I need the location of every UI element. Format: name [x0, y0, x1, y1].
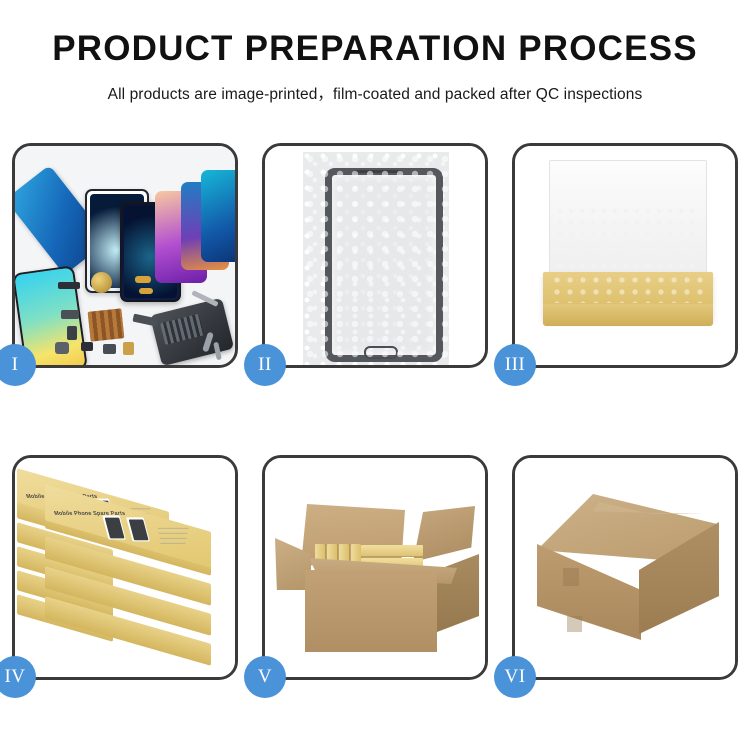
spare-part	[81, 342, 93, 351]
screw-grid	[88, 308, 125, 341]
spare-part	[123, 342, 134, 355]
box-phone-image	[126, 517, 150, 541]
box-phone-image	[102, 516, 126, 540]
step-badge-1: I	[0, 344, 36, 386]
step-1-image	[15, 146, 235, 365]
spare-part	[58, 282, 80, 289]
step-3-image	[515, 146, 735, 365]
step-panel-6[interactable]: VI	[512, 455, 738, 680]
step-6-image	[515, 458, 735, 677]
page-title: PRODUCT PREPARATION PROCESS	[0, 30, 750, 69]
step-2-image	[265, 146, 485, 365]
step-panel-5[interactable]: V	[262, 455, 488, 680]
spare-part	[103, 344, 116, 354]
retail-box	[361, 545, 423, 557]
spare-part	[139, 288, 153, 294]
spare-part	[61, 310, 79, 319]
spare-part	[55, 342, 69, 354]
kraft-box-front	[543, 304, 713, 326]
step-panel-4[interactable]: Mobile Phone Spare Parts Mobile Phone Sp…	[12, 455, 238, 680]
phone-mainboard	[150, 298, 234, 365]
page-subtitle: All products are image-printed，film-coat…	[0, 82, 750, 104]
step-badge-5: V	[244, 656, 286, 698]
process-steps-grid: I II III	[12, 143, 738, 680]
phone-display-teal	[201, 170, 235, 262]
step-panel-2[interactable]: II	[262, 143, 488, 368]
step-badge-4: IV	[0, 656, 36, 698]
carton-left-face	[537, 544, 641, 640]
wrapped-screen	[551, 275, 703, 303]
bubble-wrap-overlay	[303, 152, 449, 365]
spare-part	[135, 276, 151, 283]
step-4-image: Mobile Phone Spare Parts Mobile Phone Sp…	[15, 458, 235, 677]
retail-box-stack: Mobile Phone Spare Parts Mobile Phone Sp…	[17, 468, 235, 673]
page-header: PRODUCT PREPARATION PROCESS All products…	[0, 0, 750, 104]
step-panel-3[interactable]: III	[512, 143, 738, 368]
step-badge-6: VI	[494, 656, 536, 698]
carton-seam	[563, 568, 579, 586]
carton-body	[305, 570, 437, 652]
carton-right-side	[437, 554, 479, 632]
step-badge-2: II	[244, 344, 286, 386]
step-panel-1[interactable]: I	[12, 143, 238, 368]
spare-part	[67, 326, 77, 340]
step-badge-3: III	[494, 344, 536, 386]
step-5-image	[265, 458, 485, 677]
copper-coil	[91, 272, 112, 293]
foam-lining	[555, 206, 699, 276]
carton-seam	[567, 616, 582, 632]
